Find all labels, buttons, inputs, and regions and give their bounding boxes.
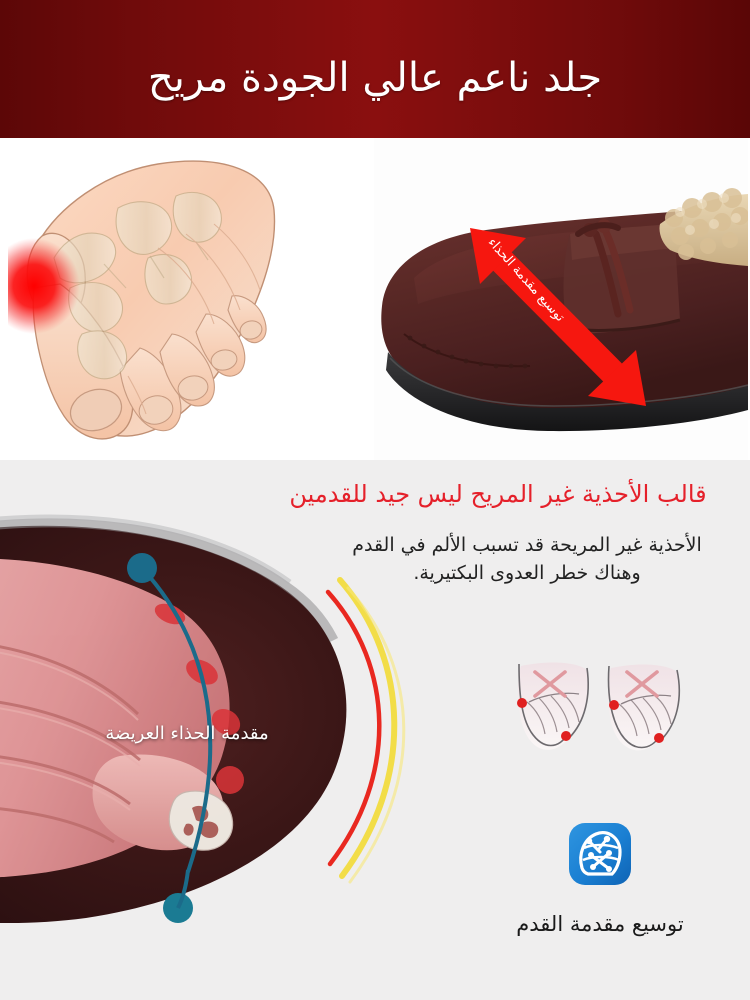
- bottom-caption: توسيع مقدمة القدم: [455, 912, 745, 936]
- brown-leather-shoe-photo: [374, 138, 748, 460]
- pressure-dot: [609, 700, 619, 710]
- header-banner: جلد ناعم عالي الجودة مريح: [0, 0, 750, 138]
- top-image-section: توسيع مقدمة الحذاء: [0, 138, 750, 460]
- section-headline: قالب الأحذية غير المريح ليس جيد للقدمين: [268, 480, 728, 508]
- bunion-foot-panel: [8, 138, 372, 460]
- pressure-dot: [517, 698, 527, 708]
- product-infographic-page: جلد ناعم عالي الجودة مريح: [0, 0, 750, 1000]
- leather-shoe-panel: توسيع مقدمة الحذاء: [374, 138, 748, 460]
- section-body-text: الأحذية غير المريحة قد تسبب الألم في الق…: [332, 532, 722, 587]
- pressure-dot: [561, 731, 571, 741]
- cramped-foot-diagrams-art: [505, 648, 695, 758]
- width-dot-top: [127, 553, 157, 583]
- cramped-foot-diagrams: [505, 648, 695, 758]
- wide-toebox-label: مقدمة الحذاء العريضة: [62, 723, 312, 744]
- banner-title: جلد ناعم عالي الجودة مريح: [148, 38, 602, 100]
- foot-anatomy-icon: [568, 822, 632, 886]
- bunion-foot-illustration: [8, 138, 372, 460]
- foot-anatomy-icon-art: [568, 822, 632, 886]
- pressure-dot: [654, 733, 664, 743]
